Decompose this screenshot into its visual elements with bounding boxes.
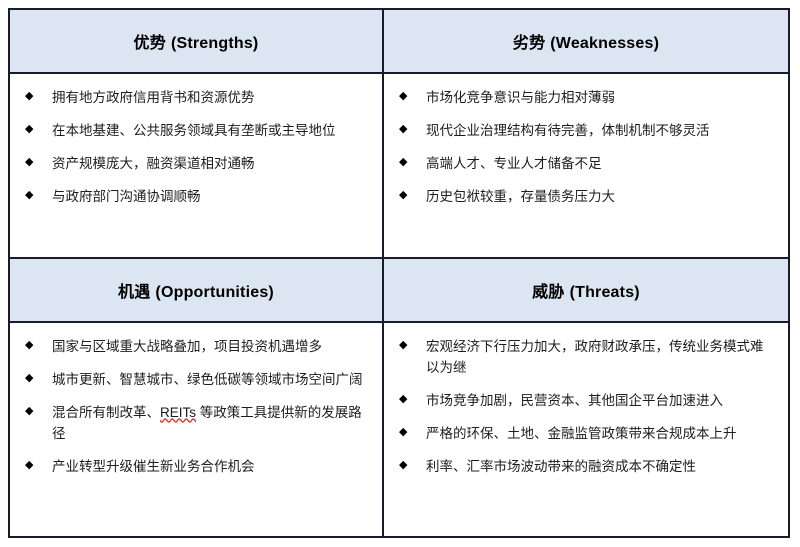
quadrant-body-threats: ◆宏观经济下行压力加大，政府财政承压，传统业务模式难以为继 ◆市场竞争加剧，民营… [384, 323, 788, 536]
list-item-text: 拥有地方政府信用背书和资源优势 [52, 90, 255, 105]
quadrant-header-opportunities-text: 机遇(Opportunities) [118, 278, 274, 302]
list-item: ◆高端人才、专业人才储备不足 [396, 154, 776, 175]
diamond-bullet-icon: ◆ [25, 121, 33, 138]
diamond-bullet-icon: ◆ [399, 154, 407, 171]
list-item-text: 国家与区域重大战略叠加，项目投资机遇增多 [52, 339, 322, 354]
list-item: ◆国家与区域重大战略叠加，项目投资机遇增多 [22, 337, 370, 358]
quadrant-body-weaknesses: ◆市场化竞争意识与能力相对薄弱 ◆现代企业治理结构有待完善，体制机制不够灵活 ◆… [384, 74, 788, 259]
quadrant-header-threats-text: 威胁(Threats) [532, 278, 640, 302]
diamond-bullet-icon: ◆ [399, 88, 407, 105]
list-item: ◆资产规模庞大，融资渠道相对通畅 [22, 154, 370, 175]
threats-list: ◆宏观经济下行压力加大，政府财政承压，传统业务模式难以为继 ◆市场竞争加剧，民营… [396, 337, 776, 478]
list-item: ◆产业转型升级催生新业务合作机会 [22, 457, 370, 478]
list-item: ◆城市更新、智慧城市、绿色低碳等领域市场空间广阔 [22, 370, 370, 391]
list-item: ◆拥有地方政府信用背书和资源优势 [22, 88, 370, 109]
quadrant-header-strengths-zh: 优势 [134, 35, 166, 52]
list-item: ◆市场化竞争意识与能力相对薄弱 [396, 88, 776, 109]
diamond-bullet-icon: ◆ [399, 424, 407, 441]
opportunities-list: ◆国家与区域重大战略叠加，项目投资机遇增多 ◆城市更新、智慧城市、绿色低碳等领域… [22, 337, 370, 478]
diamond-bullet-icon: ◆ [25, 403, 33, 420]
list-item-text: 与政府部门沟通协调顺畅 [52, 189, 201, 204]
quadrant-body-strengths: ◆拥有地方政府信用背书和资源优势 ◆在本地基建、公共服务领域具有垄断或主导地位 … [10, 74, 384, 259]
list-item: ◆与政府部门沟通协调顺畅 [22, 187, 370, 208]
quadrant-header-weaknesses: 劣势(Weaknesses) [384, 10, 788, 74]
list-item: ◆宏观经济下行压力加大，政府财政承压，传统业务模式难以为继 [396, 337, 776, 379]
strengths-list: ◆拥有地方政府信用背书和资源优势 ◆在本地基建、公共服务领域具有垄断或主导地位 … [22, 88, 370, 208]
list-item-text: 严格的环保、土地、金融监管政策带来合规成本上升 [426, 426, 737, 441]
diamond-bullet-icon: ◆ [399, 187, 407, 204]
quadrant-header-threats-zh: 威胁 [532, 284, 564, 301]
quadrant-header-threats: 威胁(Threats) [384, 259, 788, 323]
list-item-text: 在本地基建、公共服务领域具有垄断或主导地位 [52, 123, 336, 138]
list-item: ◆严格的环保、土地、金融监管政策带来合规成本上升 [396, 424, 776, 445]
list-item: ◆市场竞争加剧，民营资本、其他国企平台加速进入 [396, 391, 776, 412]
list-item-text: 城市更新、智慧城市、绿色低碳等领域市场空间广阔 [52, 372, 363, 387]
list-item-text: 资产规模庞大，融资渠道相对通畅 [52, 156, 255, 171]
list-item: ◆利率、汇率市场波动带来的融资成本不确定性 [396, 457, 776, 478]
list-item-text: 产业转型升级催生新业务合作机会 [52, 459, 255, 474]
diamond-bullet-icon: ◆ [25, 370, 33, 387]
list-item-text: 现代企业治理结构有待完善，体制机制不够灵活 [426, 123, 710, 138]
diamond-bullet-icon: ◆ [25, 154, 33, 171]
diamond-bullet-icon: ◆ [399, 121, 407, 138]
quadrant-header-weaknesses-zh: 劣势 [513, 35, 545, 52]
list-item: ◆现代企业治理结构有待完善，体制机制不够灵活 [396, 121, 776, 142]
list-item-text: 市场竞争加剧，民营资本、其他国企平台加速进入 [426, 393, 723, 408]
quadrant-header-strengths: 优势(Strengths) [10, 10, 384, 74]
quadrant-header-opportunities-zh: 机遇 [118, 284, 150, 301]
quadrant-header-weaknesses-text: 劣势(Weaknesses) [513, 29, 659, 53]
quadrant-header-opportunities-en: (Opportunities) [155, 284, 274, 301]
quadrant-body-opportunities: ◆国家与区域重大战略叠加，项目投资机遇增多 ◆城市更新、智慧城市、绿色低碳等领域… [10, 323, 384, 536]
quadrant-header-threats-en: (Threats) [570, 284, 640, 301]
weaknesses-list: ◆市场化竞争意识与能力相对薄弱 ◆现代企业治理结构有待完善，体制机制不够灵活 ◆… [396, 88, 776, 208]
diamond-bullet-icon: ◆ [399, 337, 407, 354]
list-item: ◆混合所有制改革、REITs 等政策工具提供新的发展路径 [22, 403, 370, 445]
diamond-bullet-icon: ◆ [25, 88, 33, 105]
list-item-text: 历史包袱较重，存量债务压力大 [426, 189, 615, 204]
misspelled-word: REITs [160, 405, 196, 420]
quadrant-header-weaknesses-en: (Weaknesses) [550, 35, 659, 52]
swot-table: 优势(Strengths) 劣势(Weaknesses) ◆拥有地方政府信用背书… [8, 8, 790, 538]
quadrant-header-strengths-text: 优势(Strengths) [134, 29, 259, 53]
list-item: ◆在本地基建、公共服务领域具有垄断或主导地位 [22, 121, 370, 142]
diamond-bullet-icon: ◆ [399, 391, 407, 408]
quadrant-header-opportunities: 机遇(Opportunities) [10, 259, 384, 323]
list-item-text: 宏观经济下行压力加大，政府财政承压，传统业务模式难以为继 [426, 339, 764, 375]
diamond-bullet-icon: ◆ [25, 337, 33, 354]
quadrant-header-strengths-en: (Strengths) [171, 35, 259, 52]
diamond-bullet-icon: ◆ [399, 457, 407, 474]
list-item-text: 利率、汇率市场波动带来的融资成本不确定性 [426, 459, 696, 474]
diamond-bullet-icon: ◆ [25, 457, 33, 474]
list-item-text: 高端人才、专业人才储备不足 [426, 156, 602, 171]
list-item-text-pre: 混合所有制改革、 [52, 405, 160, 420]
list-item-text: 市场化竞争意识与能力相对薄弱 [426, 90, 615, 105]
diamond-bullet-icon: ◆ [25, 187, 33, 204]
list-item: ◆历史包袱较重，存量债务压力大 [396, 187, 776, 208]
